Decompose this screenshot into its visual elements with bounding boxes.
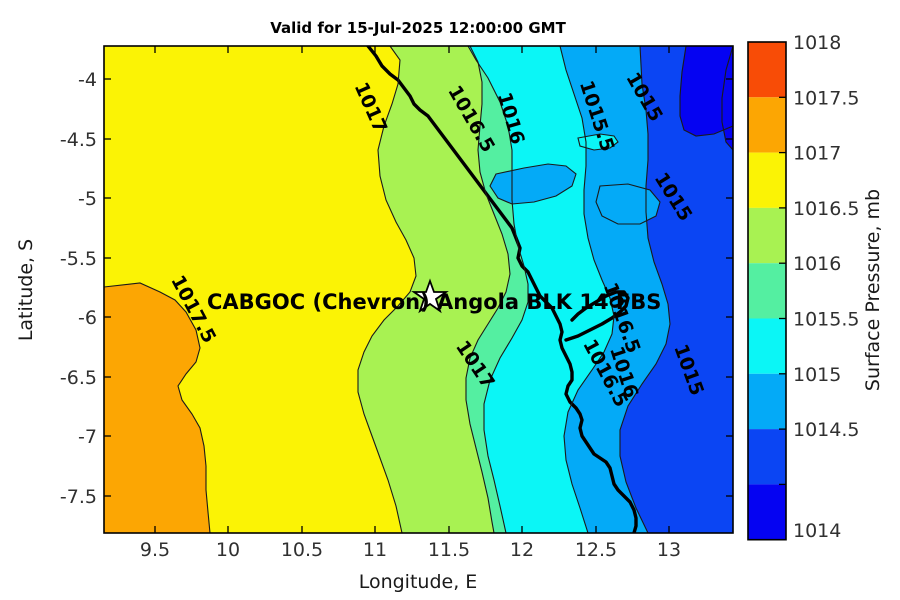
- page-title: Valid for 15-Jul-2025 12:00:00 GMT: [270, 19, 566, 37]
- plot-area: 1017 1016.5 1016 1015.5 1015 1015 1017.5…: [15, 19, 733, 593]
- colorbar-title: Surface Pressure, mb: [862, 189, 884, 391]
- x-tick-label: 11.5: [428, 539, 470, 561]
- x-axis-title: Longitude, E: [359, 571, 478, 593]
- colorbar-tick-label: 1017: [793, 143, 841, 165]
- y-tick-label: -5.5: [60, 248, 97, 270]
- y-tick-label: -5: [78, 188, 97, 210]
- x-tick-label: 13: [657, 539, 681, 561]
- station-label: CABGOC (Chevron) Angola BLK 14 FBS: [207, 290, 661, 314]
- y-tick-label: -6: [78, 307, 97, 329]
- x-tick-label: 12.5: [575, 539, 617, 561]
- y-tick-label: -4.5: [60, 129, 97, 151]
- colorbar-swatch: [748, 374, 786, 429]
- colorbar-tick-label: 1015: [793, 364, 841, 386]
- y-tick-label: -7.5: [60, 486, 97, 508]
- x-tick-label: 12: [510, 539, 534, 561]
- x-tick-label: 10: [216, 539, 240, 561]
- colorbar-swatch: [748, 153, 786, 208]
- colorbar-tick-label: 1014.5: [793, 419, 859, 441]
- colorbar-swatch: [748, 429, 786, 484]
- x-tick-label: 9.5: [140, 539, 170, 561]
- colorbar-swatch: [748, 42, 786, 97]
- colorbar-tick-label: 1016: [793, 253, 841, 275]
- colorbar-swatch: [748, 263, 786, 318]
- colorbar-tick-label: 1014: [793, 520, 841, 542]
- colorbar-tick-label: 1018: [793, 32, 841, 54]
- colorbar-swatch: [748, 319, 786, 374]
- surface-pressure-contour-figure: 1017 1016.5 1016 1015.5 1015 1015 1017.5…: [0, 0, 900, 600]
- x-tick-label: 10.5: [281, 539, 323, 561]
- y-tick-label: -4: [78, 69, 97, 91]
- colorbar-swatch: [748, 97, 786, 152]
- y-axis-title: Latitude, S: [15, 239, 37, 341]
- y-tick-label: -6.5: [60, 367, 97, 389]
- colorbar-swatch: [748, 484, 786, 539]
- colorbar-tick-label: 1015.5: [793, 309, 859, 331]
- colorbar-tick-label: 1016.5: [793, 198, 859, 220]
- x-tick-label: 11: [363, 539, 387, 561]
- y-tick-label: -7: [78, 426, 97, 448]
- colorbar-tick-label: 1017.5: [793, 87, 859, 109]
- colorbar-swatch: [748, 208, 786, 263]
